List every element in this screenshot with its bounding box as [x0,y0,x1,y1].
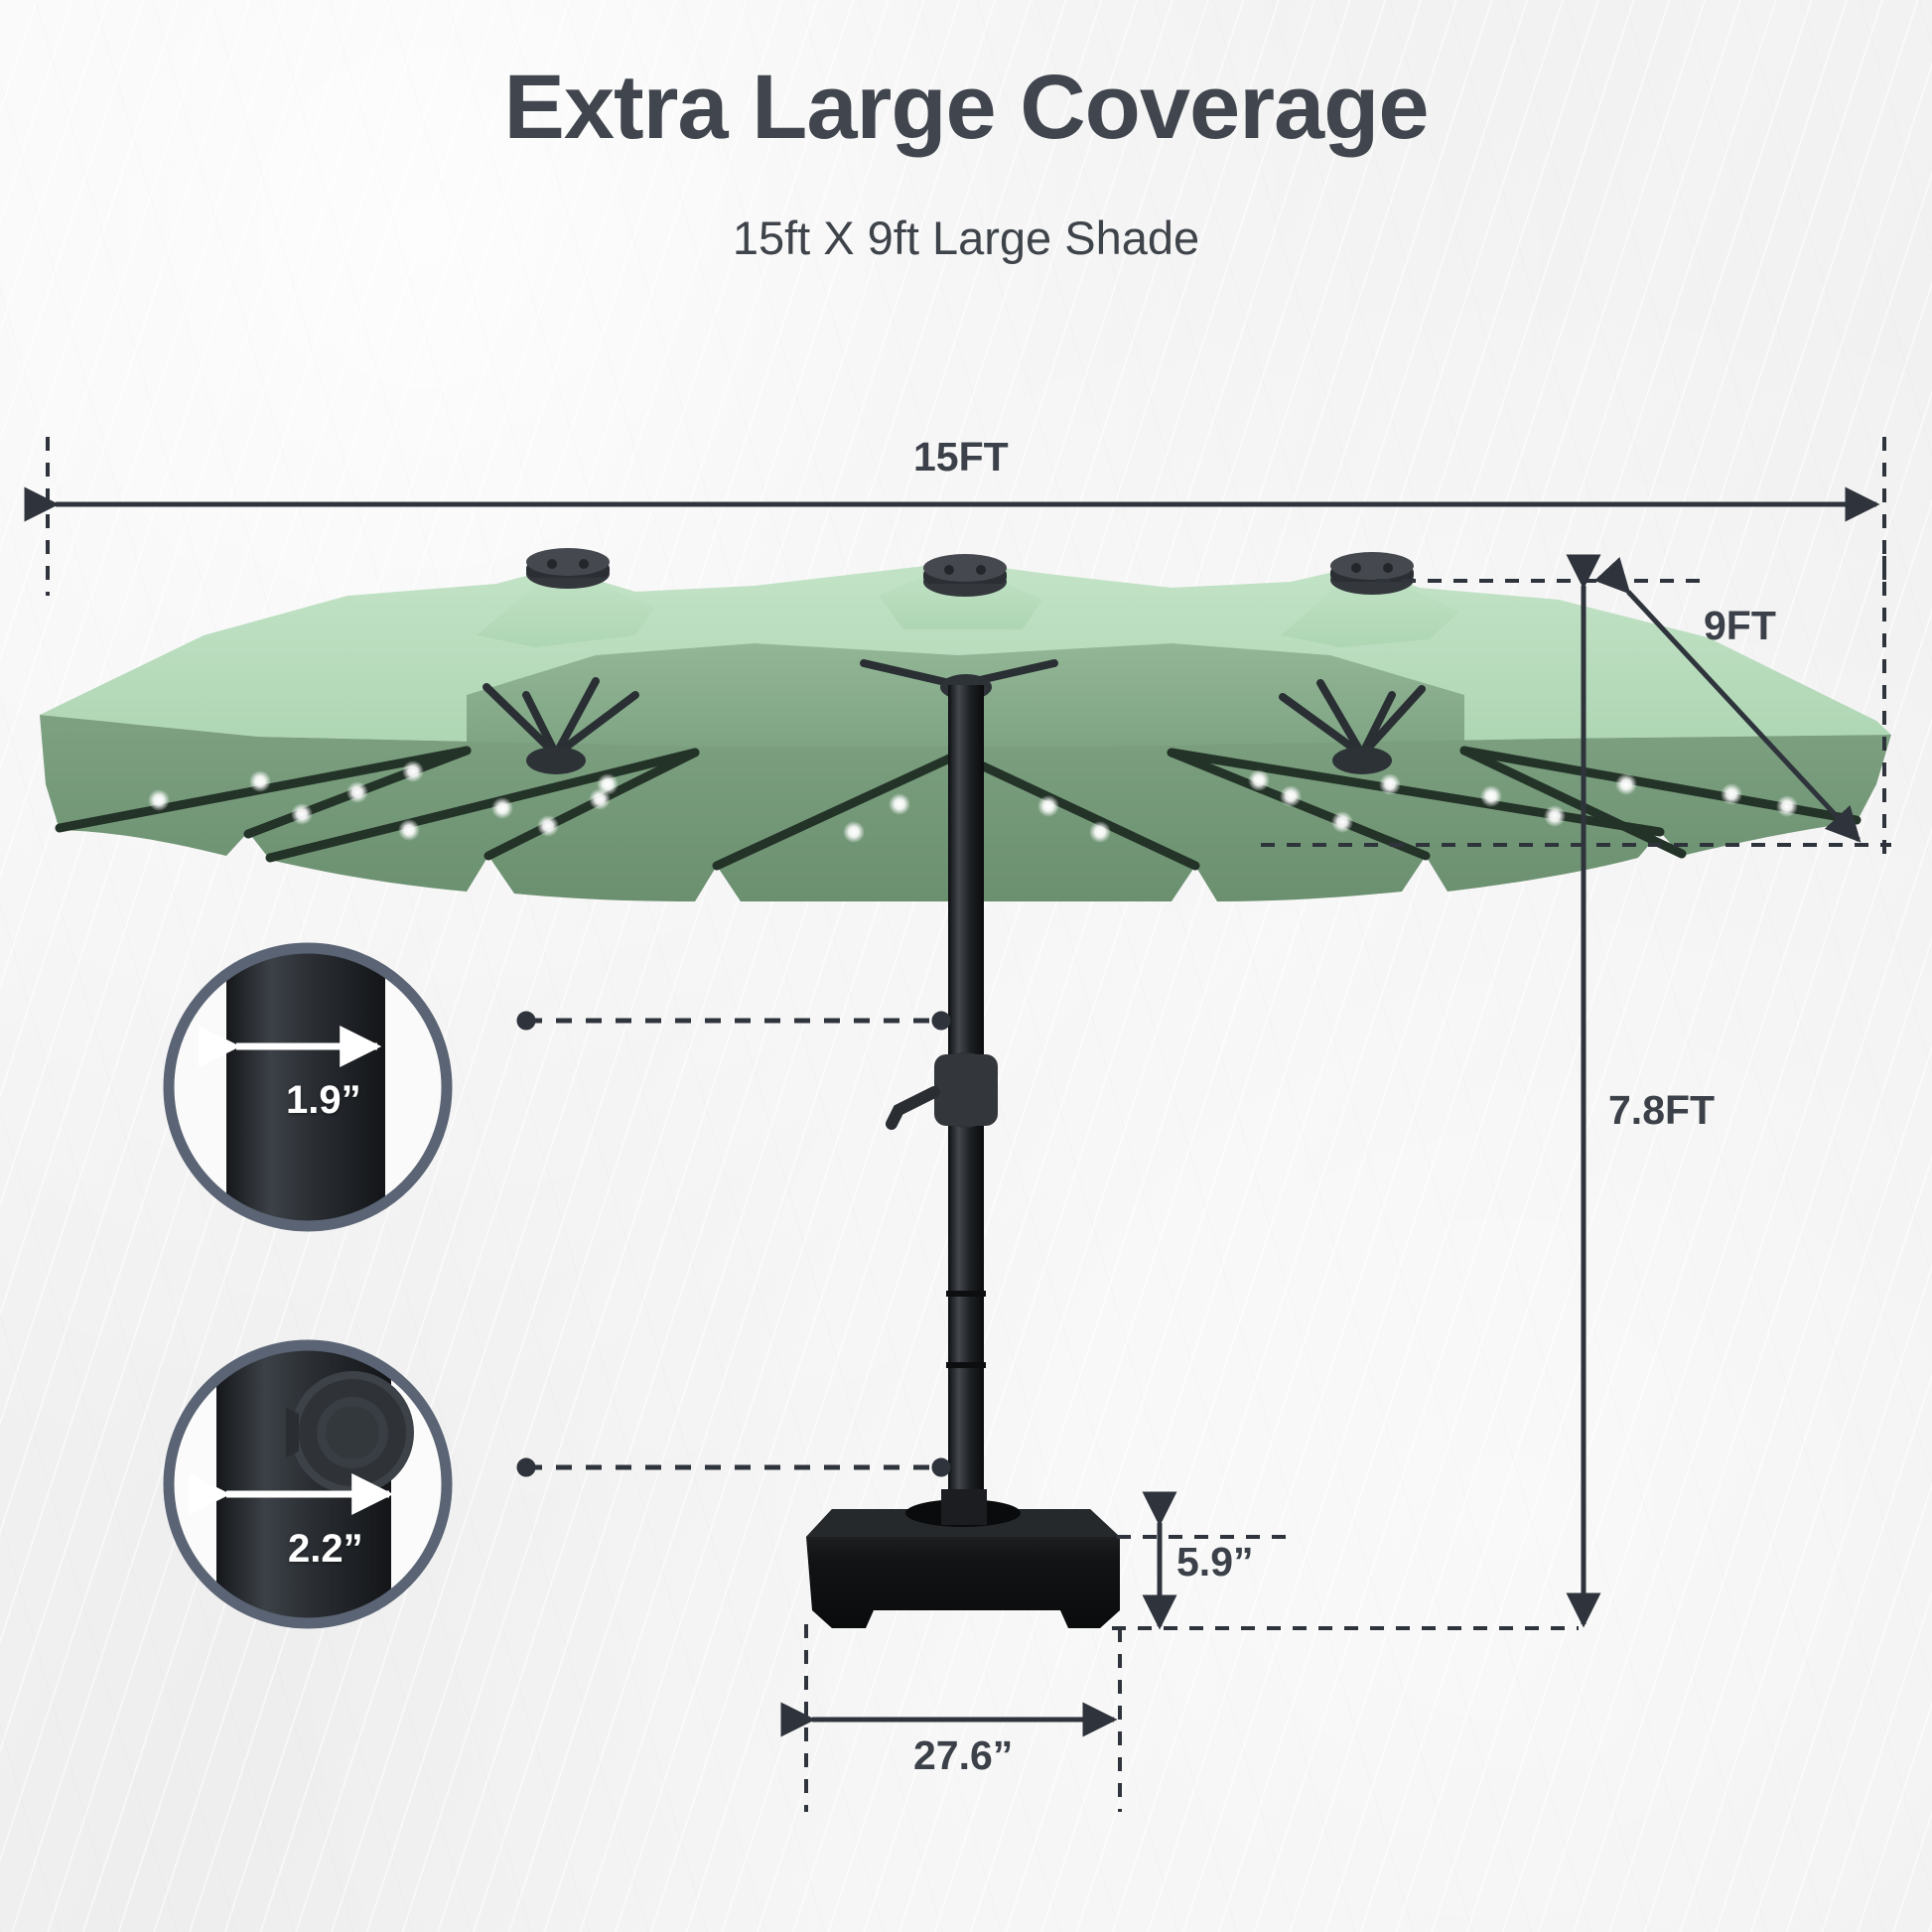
crank-handle [892,1052,998,1128]
page-title: Extra Large Coverage [0,56,1932,160]
dimension-label-base-width: 27.6” [913,1732,1013,1779]
page-subtitle: 15ft X 9ft Large Shade [0,210,1932,265]
callout-value-pole-knob: 2.2” [288,1527,363,1572]
solar-cap-center [923,554,1007,597]
strut-hub-right [1332,747,1392,774]
solar-cap-right [1330,552,1414,595]
dimension-label-height: 7.8FT [1608,1087,1715,1134]
callout-value-pole-diameter: 1.9” [286,1078,361,1123]
pole-joint-b [946,1362,986,1368]
pole-joint-a [946,1291,986,1297]
product-illustration [0,0,1932,1932]
dimension-label-width: 15FT [913,434,1009,481]
solar-cap-left [526,548,610,589]
callout-pole-knob [169,1345,447,1623]
dimension-label-depth: 9FT [1704,603,1776,649]
strut-hub-left [526,747,586,774]
dimension-label-base-height: 5.9” [1176,1539,1254,1586]
umbrella-base [806,1489,1120,1628]
callout-leader-lines [517,1012,950,1476]
